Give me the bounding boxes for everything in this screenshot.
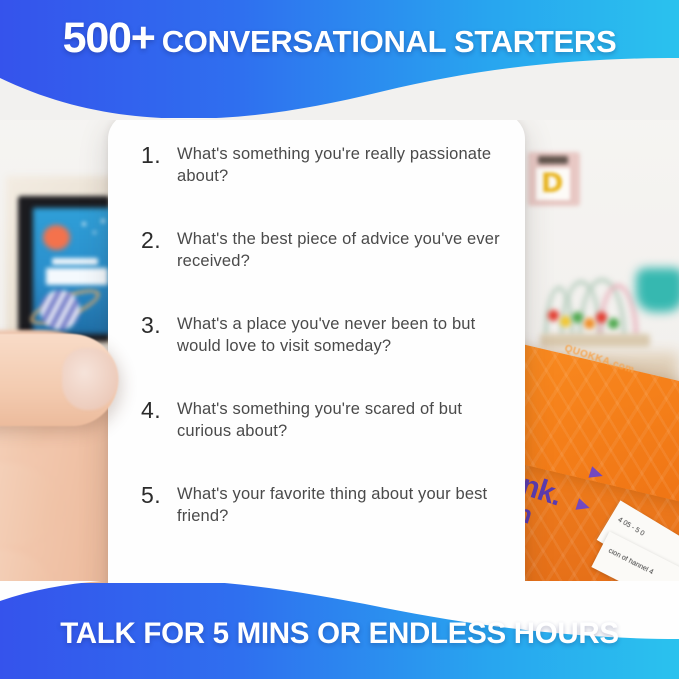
finger-knuckle [0, 462, 60, 548]
poster-star-icon [82, 222, 86, 226]
poster-star-icon [101, 219, 105, 223]
thumbnail [62, 348, 118, 410]
letter-picture-caption [538, 156, 568, 164]
question-item: 4. What's something you're scared of but… [141, 398, 501, 442]
question-item: 3. What's a place you've never been to b… [141, 313, 501, 357]
question-text: What's a place you've never been to but … [177, 313, 501, 357]
footer-tagline: TALK FOR 5 MINS OR ENDLESS HOURS [0, 617, 679, 651]
question-text: What's the best piece of advice you've e… [177, 228, 501, 272]
poster-title-blur [46, 268, 108, 285]
insert-paper-text: cion of hannel 4 [607, 548, 654, 577]
planet-icon [40, 290, 80, 330]
question-number: 2. [141, 228, 177, 252]
insert-paper-text: 4 05 - 5 0 [616, 517, 645, 538]
header-title: CONVERSATIONAL STARTERS [162, 24, 617, 59]
poster-star-icon [93, 231, 96, 234]
question-number: 1. [141, 143, 177, 167]
bottom-banner: TALK FOR 5 MINS OR ENDLESS HOURS [0, 583, 679, 679]
question-text: What's your favorite thing about your be… [177, 483, 501, 527]
question-item: 1. What's something you're really passio… [141, 143, 501, 187]
poster-sun-icon [43, 225, 70, 250]
rainbow-stacker-toy [588, 238, 644, 288]
abacus-bead [572, 312, 583, 323]
promo-image: D QUOKKA.com think. ation r 4 05 - 5 0 [0, 0, 679, 679]
abacus-bead [560, 316, 571, 327]
abacus-bead [596, 312, 607, 323]
question-text: What's something you're scared of but cu… [177, 398, 501, 442]
question-number: 5. [141, 483, 177, 507]
abacus-bead [584, 318, 595, 329]
top-banner: 500+CONVERSATIONAL STARTERS [0, 0, 679, 118]
question-item: 5. What's your favorite thing about your… [141, 483, 501, 527]
top-banner-wave [0, 58, 679, 120]
abacus-bead [608, 318, 619, 329]
question-text: What's something you're really passionat… [177, 143, 501, 187]
header-count: 500+ [63, 14, 155, 62]
question-number: 4. [141, 398, 177, 422]
question-number: 3. [141, 313, 177, 337]
abacus-bead [548, 310, 559, 321]
conversation-card[interactable]: 1. What's something you're really passio… [108, 113, 525, 625]
question-list: 1. What's something you're really passio… [141, 143, 501, 527]
letter-picture-letter: D [541, 170, 563, 198]
question-item: 2. What's the best piece of advice you'v… [141, 228, 501, 272]
poster-subtitle-blur [52, 258, 98, 265]
header-text: 500+CONVERSATIONAL STARTERS [0, 14, 679, 63]
